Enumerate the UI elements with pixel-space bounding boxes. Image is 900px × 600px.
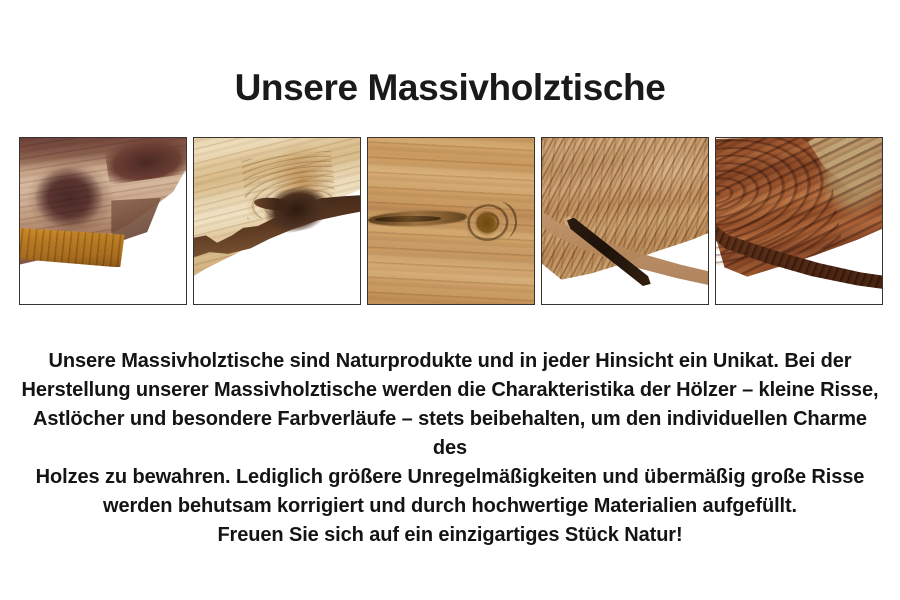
description-line: werden behutsam korrigiert und durch hoc… [20,492,880,521]
description-line: Freuen Sie sich auf ein einzigartiges St… [20,521,880,550]
wood-detail-gallery [19,137,883,305]
description-text: Unsere Massivholztische sind Naturproduk… [20,347,880,550]
wood-image-sheesham-knot-corner [20,138,186,304]
gallery-photo-4[interactable] [541,137,709,305]
description-line: Astlöcher und besondere Farbverläufe – s… [20,405,880,463]
wood-image-sheesham-corner [716,138,882,304]
description-line: Holzes zu bewahren. Lediglich größere Un… [20,463,880,492]
gallery-photo-1[interactable] [19,137,187,305]
product-info-banner: Unsere Massivholztische [0,0,900,600]
page-title: Unsere Massivholztische [0,66,900,110]
wood-image-honey-plank-knot [368,138,534,304]
description-line: Herstellung unserer Massivholztische wer… [20,376,880,405]
gallery-photo-2[interactable] [193,137,361,305]
gallery-photo-5[interactable] [715,137,883,305]
gallery-photo-3[interactable] [367,137,535,305]
wood-image-blonde-live-edge [194,138,360,304]
description-line: Unsere Massivholztische sind Naturproduk… [20,347,880,376]
wood-image-rough-sawn-crack [542,138,708,304]
